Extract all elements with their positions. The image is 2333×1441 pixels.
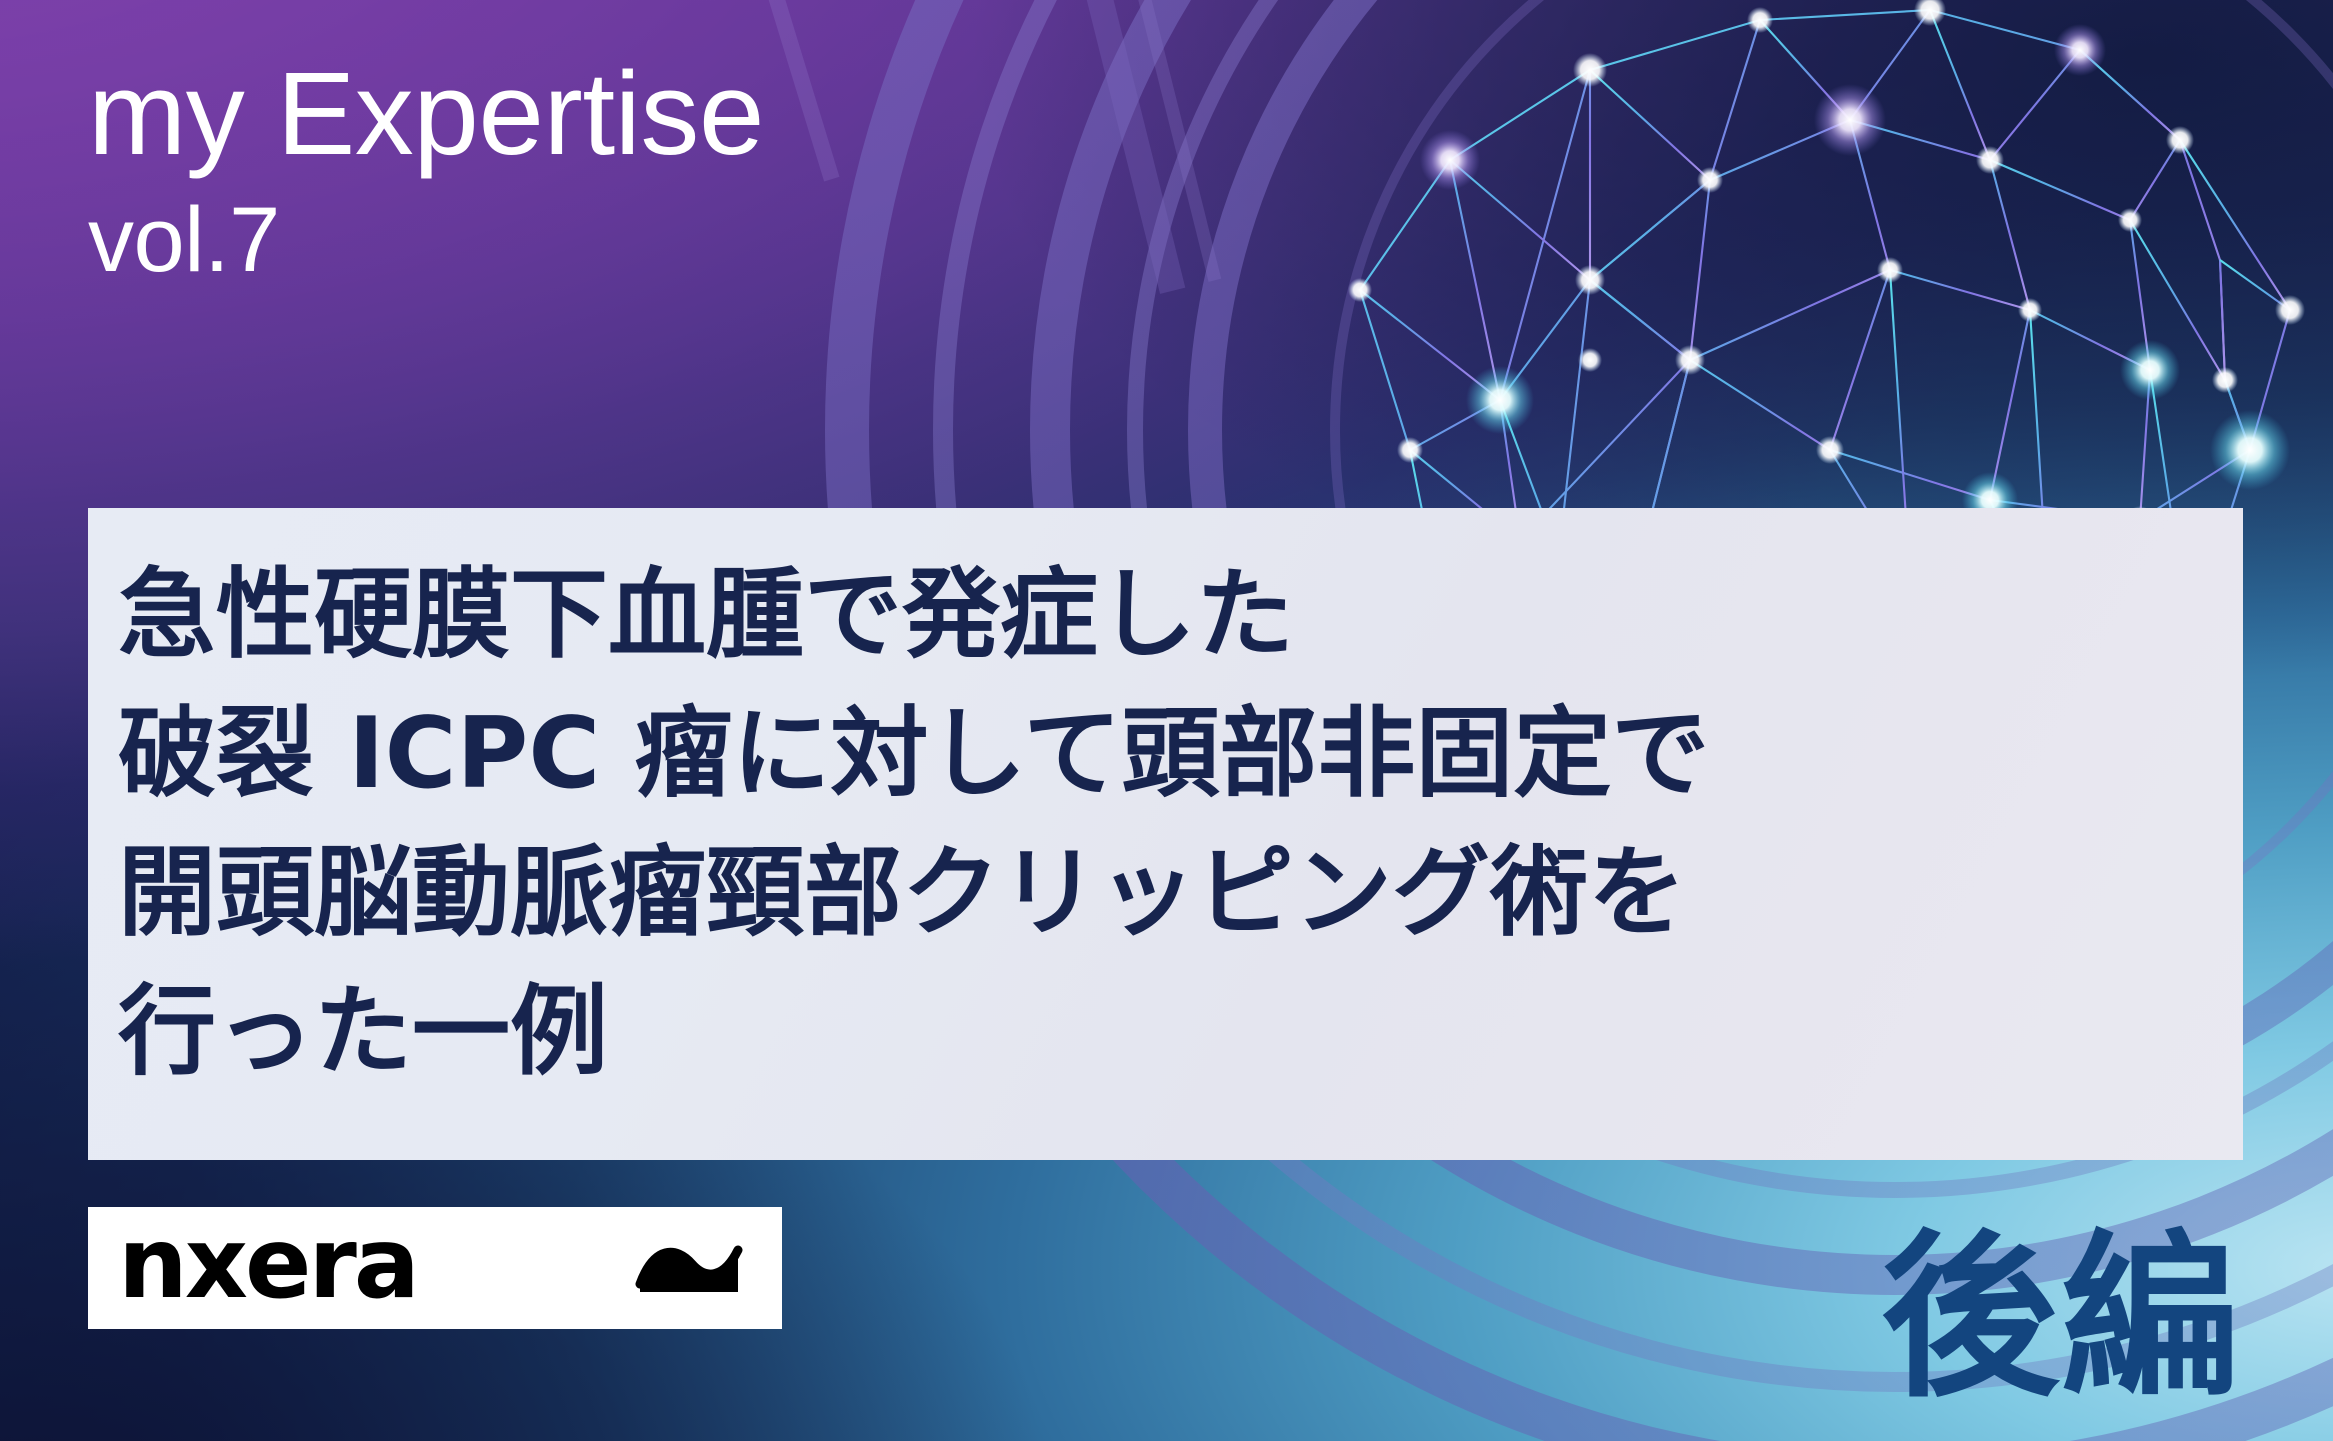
header-block: my Expertise vol.7	[88, 54, 1288, 286]
nxera-logo: nxera	[88, 1207, 782, 1329]
series-title: my Expertise	[88, 54, 1288, 176]
title-line-2: 破裂 ICPC 瘤に対して頭部非固定で	[118, 685, 2243, 824]
title-panel: 急性硬膜下血腫で発症した 破裂 ICPC 瘤に対して頭部非固定で 開頭脳動脈瘤頸…	[88, 508, 2243, 1160]
part-badge: 後編	[1881, 1229, 2241, 1407]
nxera-wave-mark	[614, 1222, 764, 1314]
slide-canvas: my Expertise vol.7 急性硬膜下血腫で発症した 破裂 ICPC …	[0, 0, 2333, 1441]
title-line-4: 行った一例	[118, 963, 2243, 1102]
title-line-1: 急性硬膜下血腫で発症した	[118, 546, 2243, 685]
volume-label: vol.7	[88, 194, 1288, 286]
title-line-3: 開頭脳動脈瘤頸部クリッピング術を	[118, 824, 2243, 963]
nxera-wordmark: nxera	[118, 1215, 417, 1313]
